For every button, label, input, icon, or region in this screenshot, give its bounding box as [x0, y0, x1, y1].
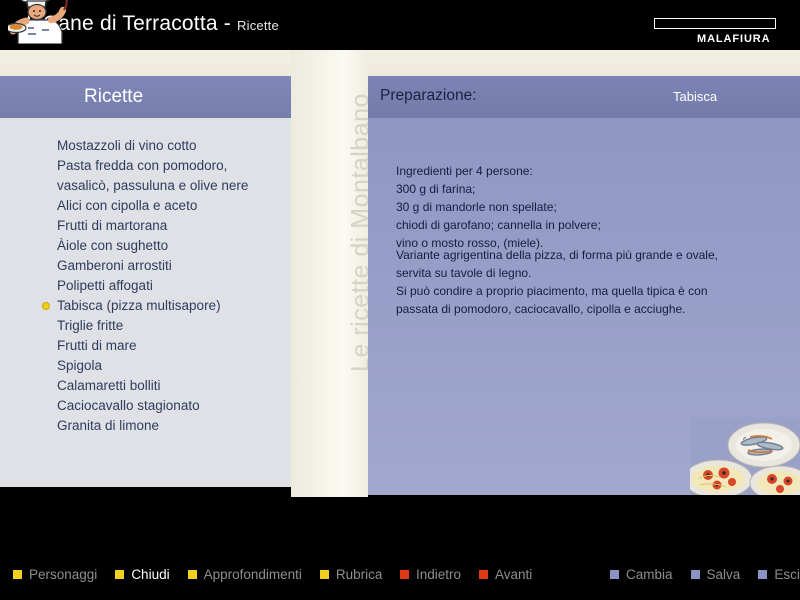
nav-button-label: Avanti [495, 567, 532, 582]
nav-button[interactable]: Indietro [400, 567, 461, 582]
nav-bullet-icon [610, 570, 619, 579]
recipe-list-item[interactable]: Spigola [0, 356, 291, 376]
application-window: Il Cane di Terracotta - Ricette MALAFIUR… [0, 0, 800, 600]
vertical-title-spine: Le ricette di Montalbano [291, 50, 368, 497]
nav-bullet-icon [691, 570, 700, 579]
detail-body: Ingredienti per 4 persone: 300 g di fari… [368, 118, 800, 495]
recipe-item-label: Polipetti affogati [57, 278, 153, 293]
recipe-list-item[interactable]: Alici con cipolla e aceto [0, 196, 291, 216]
bottom-navigation-bar: PersonaggiChiudiApprofondimentiRubrica I… [0, 555, 800, 600]
recipe-list-item[interactable]: Polipetti affogati [0, 276, 291, 296]
recipe-detail-panel: Preparazione: Tabisca Ingredienti per 4 … [368, 76, 800, 495]
recipe-list-item[interactable]: Triglie fritte [0, 316, 291, 336]
nav-button-label: Esci [774, 567, 800, 582]
nav-button-label: Indietro [416, 567, 461, 582]
nav-button[interactable]: Personaggi [13, 567, 97, 582]
recipe-item-label: Calamaretti bolliti [57, 378, 161, 393]
recipe-list-panel: Ricette Mostazzoli di vino cottoPasta fr… [0, 76, 291, 487]
recipe-item-label: Spigola [57, 358, 102, 373]
nav-button[interactable]: Chiudi [115, 567, 169, 582]
nav-button[interactable]: Cambia [610, 567, 673, 582]
recipe-list-heading: Ricette [84, 86, 143, 108]
nav-button-label: Cambia [626, 567, 673, 582]
recipe-list-header: Ricette [0, 76, 291, 118]
recipe-list-item[interactable]: Frutti di martorana [0, 216, 291, 236]
recipe-item-label: Tabisca (pizza multisapore) [57, 298, 221, 313]
food-photo [690, 417, 800, 495]
recipe-list-item[interactable]: Calamaretti bolliti [0, 376, 291, 396]
nav-button[interactable]: Rubrica [320, 567, 383, 582]
brand-rule [654, 18, 776, 29]
recipe-list-item[interactable]: Àiole con sughetto [0, 236, 291, 256]
recipe-list-item[interactable]: Tabisca (pizza multisapore) [0, 296, 291, 316]
current-recipe-name: Tabisca [673, 89, 717, 104]
title-separator: - [224, 12, 231, 35]
nav-button-label: Salva [707, 567, 741, 582]
recipe-item-label: Frutti di martorana [57, 218, 167, 233]
nav-button[interactable]: Approfondimenti [188, 567, 302, 582]
recipe-list: Mostazzoli di vino cottoPasta fredda con… [0, 136, 291, 436]
nav-bullet-icon [13, 570, 22, 579]
recipe-item-label: Granita di limone [57, 418, 159, 433]
nav-button[interactable]: Avanti [479, 567, 532, 582]
nav-button[interactable]: Esci [758, 567, 800, 582]
nav-button-label: Approfondimenti [204, 567, 302, 582]
nav-group-navigation: IndietroAvanti [400, 567, 550, 582]
recipe-list-item[interactable]: Pasta fredda con pomodoro, [0, 156, 291, 176]
detail-header: Preparazione: Tabisca [368, 76, 800, 118]
recipe-item-label: Alici con cipolla e aceto [57, 198, 197, 213]
chef-icon [8, 0, 82, 44]
title-bar: Il Cane di Terracotta - Ricette MALAFIUR… [0, 0, 800, 50]
recipe-item-label: Triglie fritte [57, 318, 123, 333]
nav-bullet-icon [188, 570, 197, 579]
preparation-label: Preparazione: [380, 87, 477, 105]
selected-bullet-icon [42, 302, 50, 310]
nav-bullet-icon [758, 570, 767, 579]
brand-logo: MALAFIURA [697, 33, 770, 45]
nav-group-system: CambiaSalvaEsci [610, 567, 800, 582]
recipe-item-label: Àiole con sughetto [57, 238, 168, 253]
ingredients-text: Ingredienti per 4 persone: 300 g di fari… [396, 162, 601, 252]
nav-button-label: Chiudi [131, 567, 169, 582]
recipe-list-item[interactable]: Caciocavallo stagionato [0, 396, 291, 416]
nav-bullet-icon [115, 570, 124, 579]
nav-button[interactable]: Salva [691, 567, 741, 582]
recipe-item-label: Gamberoni arrostiti [57, 258, 172, 273]
recipe-list-item[interactable]: Frutti di mare [0, 336, 291, 356]
nav-bullet-icon [400, 570, 409, 579]
recipe-item-label: Mostazzoli di vino cotto [57, 138, 197, 153]
nav-bullet-icon [320, 570, 329, 579]
recipe-list-item[interactable]: vasalicò, passuluna e olive nere [0, 176, 291, 196]
nav-button-label: Rubrica [336, 567, 383, 582]
recipe-item-label: Pasta fredda con pomodoro, [57, 158, 227, 173]
description-text: Variante agrigentina della pizza, di for… [396, 246, 718, 318]
header-cream-band [0, 50, 800, 76]
recipe-item-label: vasalicò, passuluna e olive nere [57, 178, 248, 193]
recipe-item-label: Caciocavallo stagionato [57, 398, 200, 413]
recipe-list-item[interactable]: Mostazzoli di vino cotto [0, 136, 291, 156]
recipe-list-item[interactable]: Gamberoni arrostiti [0, 256, 291, 276]
nav-button-label: Personaggi [29, 567, 97, 582]
nav-group-primary: PersonaggiChiudiApprofondimentiRubrica [13, 567, 400, 582]
recipe-list-item[interactable]: Granita di limone [0, 416, 291, 436]
recipe-item-label: Frutti di mare [57, 338, 137, 353]
nav-bullet-icon [479, 570, 488, 579]
app-title-subtitle: Ricette [237, 18, 279, 33]
